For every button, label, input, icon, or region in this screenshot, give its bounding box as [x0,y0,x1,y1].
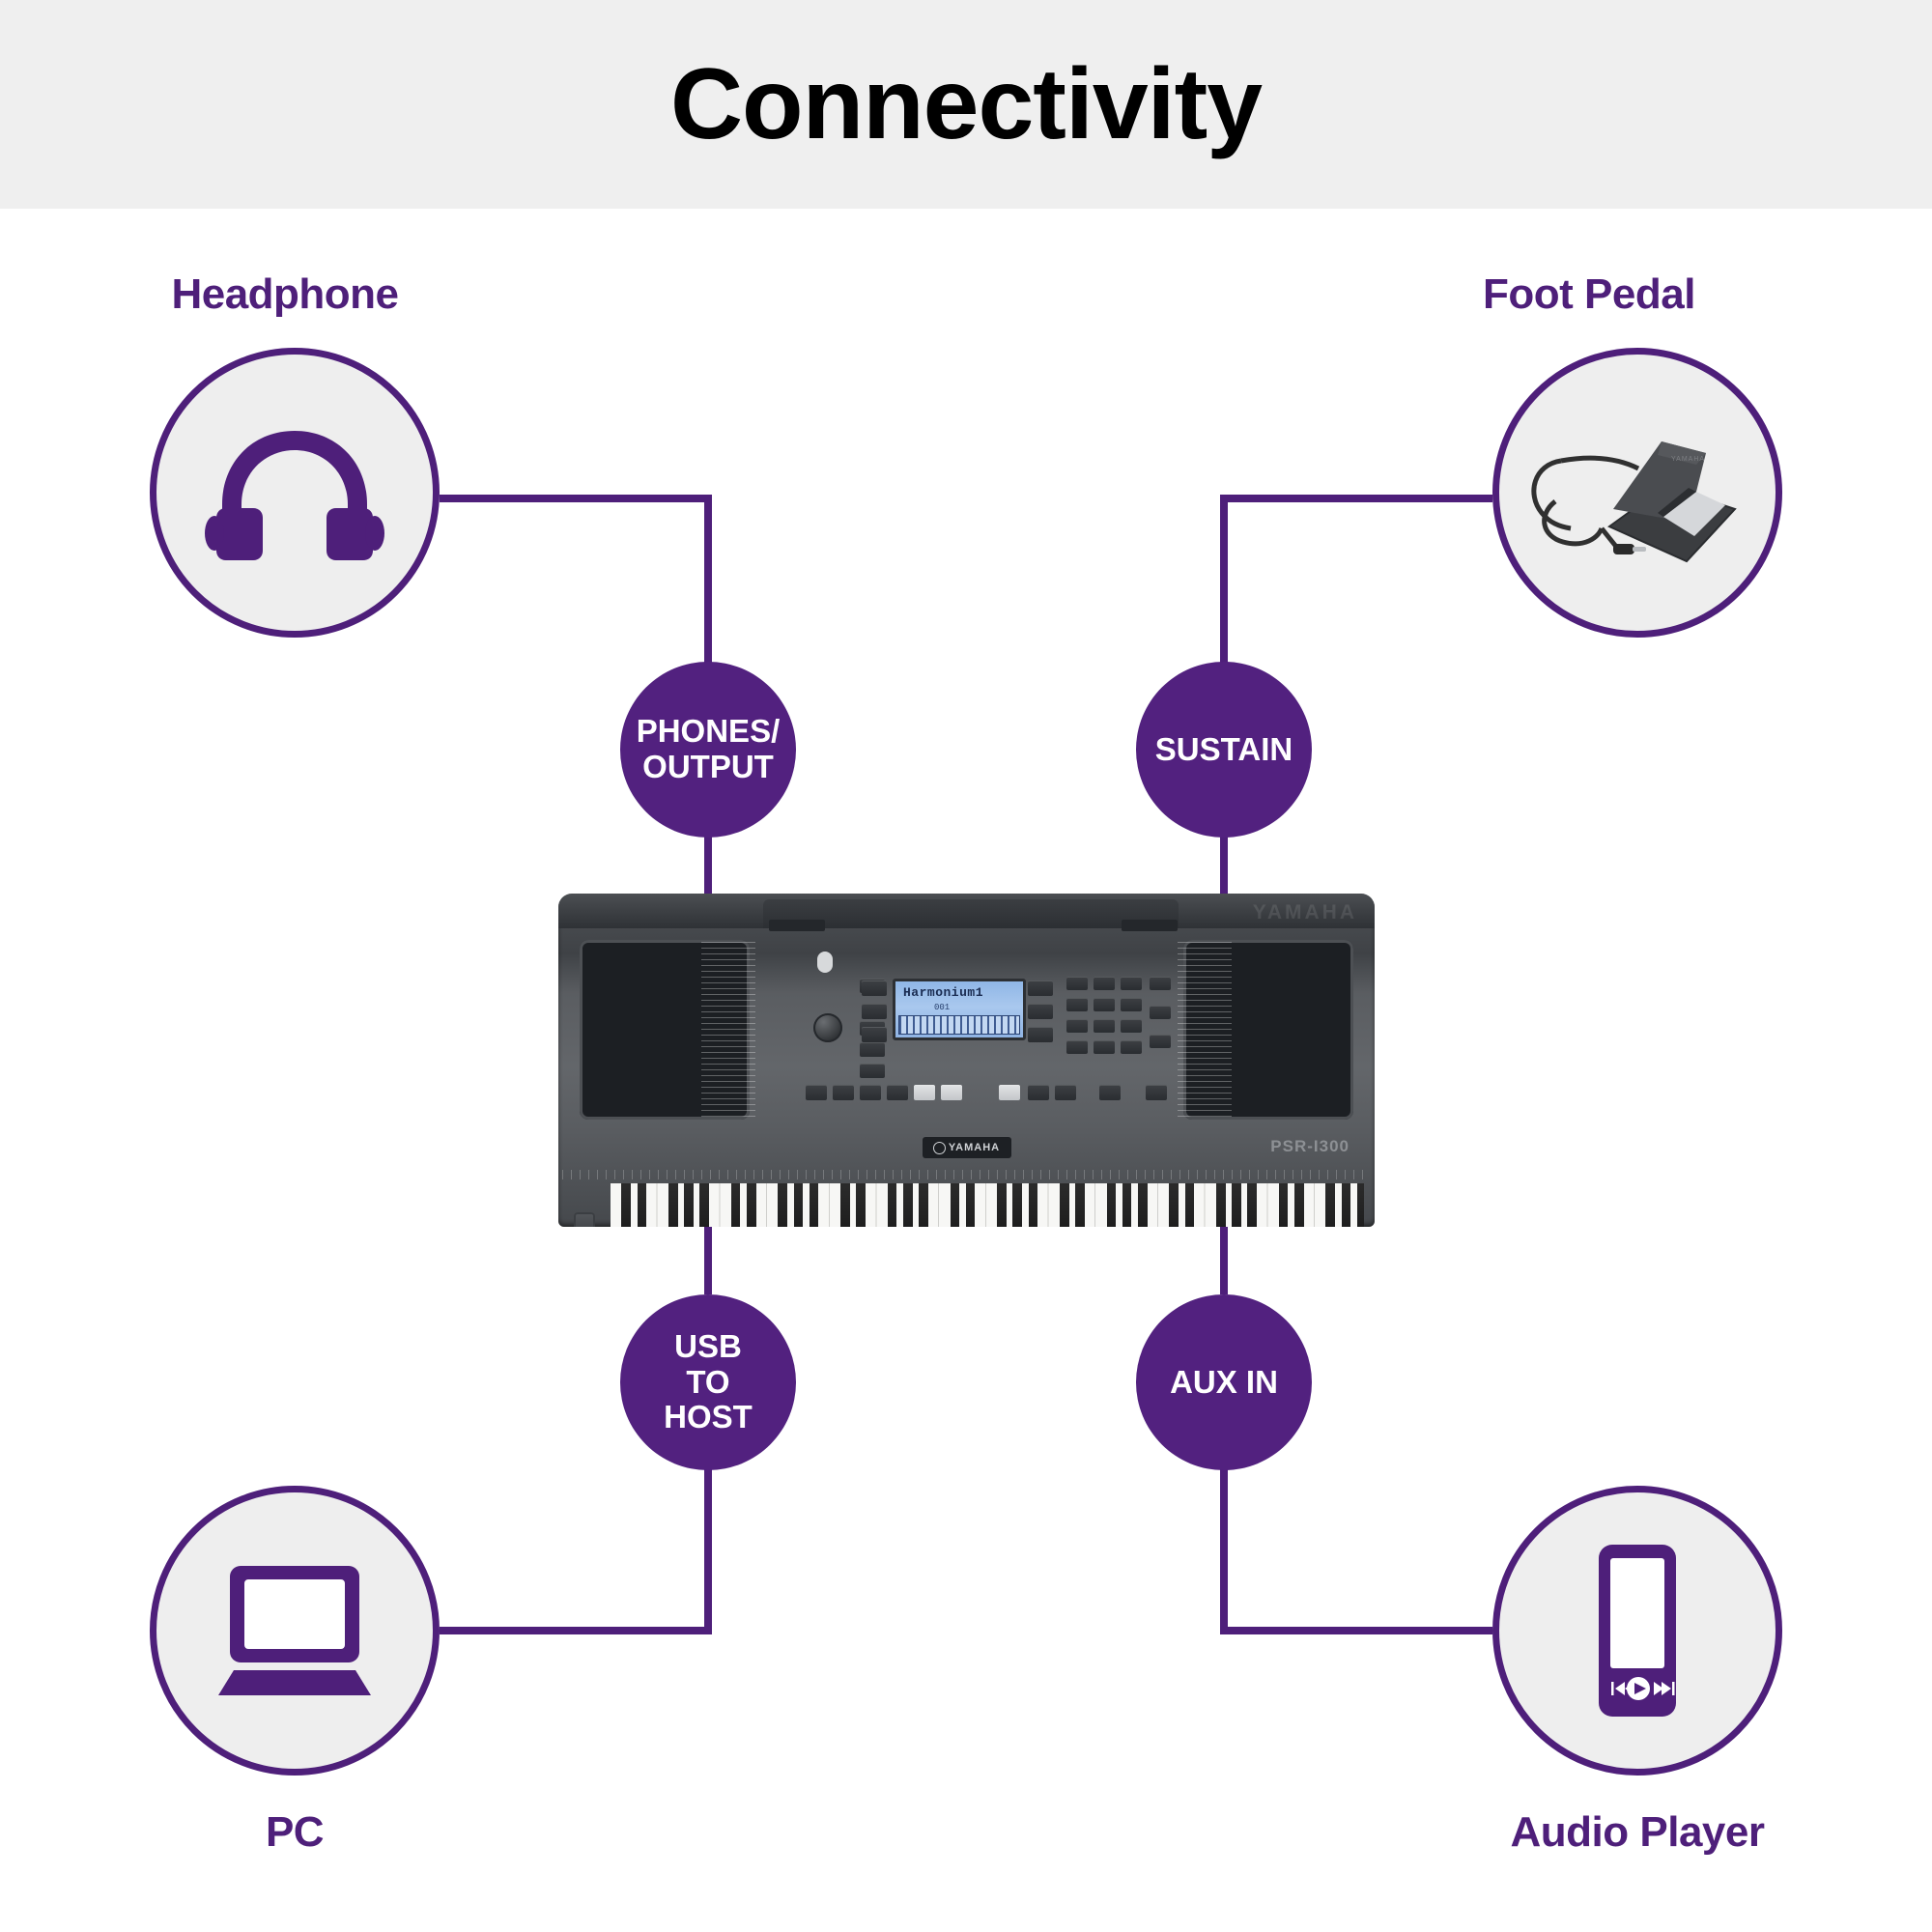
port-label-aux-in: AUX IN [1170,1365,1278,1401]
page-title: Connectivity [0,0,1932,209]
black-key[interactable] [903,1183,913,1227]
pitch-bend-wheel[interactable] [574,1212,595,1227]
black-key[interactable] [747,1183,756,1227]
numpad-7[interactable] [1066,1019,1088,1033]
device-label-audio-player: Audio Player [1425,1808,1850,1857]
panel-button-voice[interactable] [1028,980,1053,996]
panel-button-dsp[interactable] [1028,1085,1049,1100]
port-label-sustain: SUSTAIN [1155,732,1293,768]
lcd-voice-name: Harmonium1 [903,985,983,1000]
yamaha-logo-text: YAMAHA [949,1142,1000,1153]
chord-name-print-strip [562,1170,1371,1179]
black-key[interactable] [810,1183,819,1227]
device-circle-pc[interactable] [150,1486,440,1776]
keyboard-device[interactable]: YAMAHA Harmon [558,894,1375,1227]
black-key[interactable] [840,1183,850,1227]
device-label-pc: PC [82,1808,507,1857]
panel-button-rew[interactable] [833,1085,854,1100]
black-key[interactable] [1169,1183,1179,1227]
black-key[interactable] [919,1183,928,1227]
style-list-print-right [1178,942,1232,1121]
panel-button-track[interactable] [862,1004,887,1019]
panel-button-reg-memory[interactable] [1099,1085,1121,1100]
power-button[interactable] [817,952,833,973]
device-circle-headphone[interactable] [150,348,440,638]
numpad-9[interactable] [1121,1019,1142,1033]
data-dial[interactable] [813,1013,842,1042]
black-key[interactable] [1075,1183,1085,1227]
black-key[interactable] [1060,1183,1069,1227]
panel-button-sync-start[interactable] [941,1085,962,1100]
black-key[interactable] [1232,1183,1241,1227]
lcd-keyboard-graphic [898,1015,1020,1035]
svg-text:YAMAHA: YAMAHA [1671,456,1705,463]
lcd-voice-number: 001 [934,1003,950,1012]
numpad-8[interactable] [1094,1019,1115,1033]
control-panel: Harmonium1 001 [759,938,1175,1131]
piano-keybed[interactable] [611,1183,1364,1227]
black-key[interactable] [731,1183,741,1227]
black-key[interactable] [997,1183,1007,1227]
black-key[interactable] [951,1183,960,1227]
black-key[interactable] [1247,1183,1257,1227]
keyboard-body: YAMAHA Harmon [558,894,1375,1227]
keyboard-model-text: PSR-I300 [1270,1137,1350,1156]
numpad-0[interactable] [1066,1040,1088,1054]
black-key[interactable] [778,1183,787,1227]
laptop-icon [213,1558,377,1703]
music-rest-slot [763,899,1179,928]
black-key[interactable] [638,1183,647,1227]
audio-player-icon [1575,1539,1700,1722]
black-key[interactable] [1029,1183,1038,1227]
panel-button-pause[interactable] [887,1085,908,1100]
panel-button-lesson[interactable] [862,1027,887,1042]
numpad-2[interactable] [1094,977,1115,990]
black-key[interactable] [1107,1183,1117,1227]
panel-button-function-menu[interactable] [1146,1085,1167,1100]
headphone-icon [203,415,386,570]
panel-button-dual[interactable] [1150,1006,1171,1019]
device-label-foot-pedal: Foot Pedal [1377,270,1802,319]
port-usb-to-host[interactable]: USB TO HOST [620,1294,796,1470]
black-key[interactable] [888,1183,897,1227]
black-key[interactable] [699,1183,709,1227]
black-key[interactable] [1122,1183,1132,1227]
music-rest-notch-right [1122,920,1178,931]
numpad-1[interactable] [1066,977,1088,990]
numpad-6[interactable] [1121,998,1142,1011]
voice-list-print-left [701,942,755,1121]
port-sustain[interactable]: SUSTAIN [1136,662,1312,838]
black-key[interactable] [794,1183,804,1227]
panel-button-split[interactable] [1150,1035,1171,1048]
black-key[interactable] [1279,1183,1289,1227]
black-key[interactable] [1294,1183,1304,1227]
port-aux-in[interactable]: AUX IN [1136,1294,1312,1470]
yamaha-tuning-fork-icon [933,1142,946,1154]
black-key[interactable] [966,1183,976,1227]
panel-button-ff[interactable] [860,1085,881,1100]
black-key[interactable] [1138,1183,1148,1227]
black-key[interactable] [1185,1183,1195,1227]
lcd-display: Harmonium1 001 [893,979,1026,1040]
black-key[interactable] [1012,1183,1022,1227]
panel-button-tempo[interactable] [860,1042,885,1057]
black-key[interactable] [621,1183,631,1227]
panel-button-harmony[interactable] [999,1085,1020,1100]
black-key[interactable] [684,1183,694,1227]
numpad-3[interactable] [1121,977,1142,990]
music-rest-notch-left [769,920,825,931]
device-label-headphone: Headphone [72,270,497,319]
yamaha-emboss-text: YAMAHA [1253,901,1357,924]
numpad-4[interactable] [1066,998,1088,1011]
black-key[interactable] [1216,1183,1226,1227]
device-circle-audio-player[interactable] [1492,1486,1782,1776]
panel-button-a-b-repeat[interactable] [806,1085,827,1100]
panel-button-song[interactable] [1028,1004,1053,1019]
black-keys[interactable] [611,1183,1364,1227]
panel-button-style[interactable] [1028,1027,1053,1042]
panel-button-registration[interactable] [1150,977,1171,990]
device-circle-foot-pedal[interactable]: YAMAHA [1492,348,1782,638]
black-key[interactable] [1357,1183,1364,1227]
black-key[interactable] [668,1183,678,1227]
panel-button-arpeggio[interactable] [1055,1085,1076,1100]
panel-button-tap[interactable] [860,1064,885,1078]
black-key[interactable] [1342,1183,1351,1227]
black-key[interactable] [856,1183,866,1227]
port-label-phones-output: PHONES/ OUTPUT [637,714,781,785]
yamaha-logo-plate: YAMAHA [923,1137,1011,1158]
numpad-5[interactable] [1094,998,1115,1011]
foot-pedal-icon: YAMAHA [1517,401,1758,584]
numpad-plus[interactable] [1094,1040,1115,1054]
panel-button-start-stop[interactable] [914,1085,935,1100]
panel-button-function[interactable] [862,980,887,996]
port-label-usb-to-host: USB TO HOST [664,1329,753,1436]
black-key[interactable] [1325,1183,1335,1227]
numpad-minus[interactable] [1121,1040,1142,1054]
port-phones-output[interactable]: PHONES/ OUTPUT [620,662,796,838]
